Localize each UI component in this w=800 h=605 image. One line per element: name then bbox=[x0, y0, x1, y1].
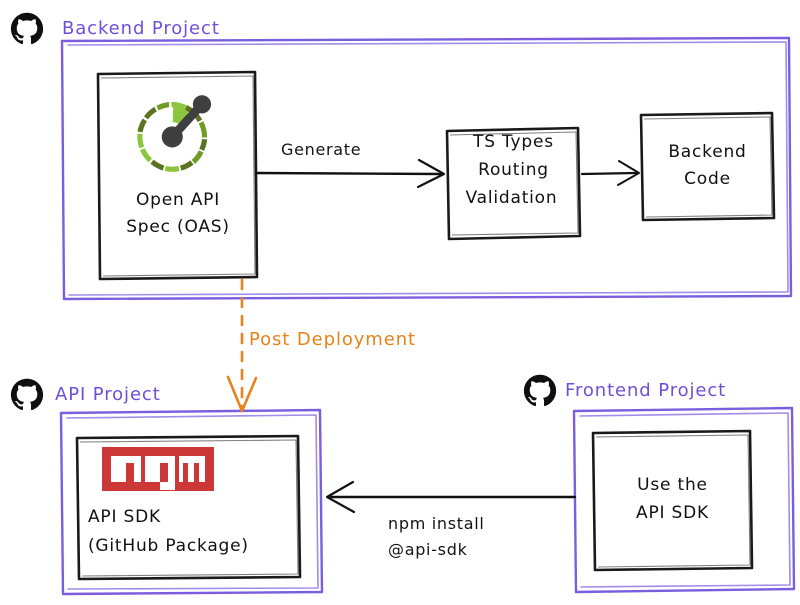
edge-label-npm-install-line1: npm install bbox=[388, 512, 485, 536]
node-label-ts-types-line1: TS Types bbox=[447, 130, 580, 155]
node-label-api-sdk-line2: (GitHub Package) bbox=[88, 534, 298, 559]
node-label-ts-types-line2: Routing bbox=[447, 158, 580, 183]
group-title-frontend-project: Frontend Project bbox=[565, 380, 726, 401]
node-label-open-api-spec-line2: Spec (OAS) bbox=[98, 215, 258, 240]
github-icon bbox=[10, 12, 44, 46]
arrow-ts-to-backend bbox=[582, 161, 639, 185]
group-title-backend-project: Backend Project bbox=[62, 18, 220, 39]
edge-label-generate: Generate bbox=[281, 138, 361, 162]
openapi-logo-icon bbox=[130, 89, 226, 181]
node-label-api-sdk-line1: API SDK bbox=[88, 505, 288, 530]
diagram-canvas: Backend Project API Project Frontend Pro… bbox=[0, 0, 800, 605]
edge-label-post-deployment: Post Deployment bbox=[249, 329, 416, 350]
arrow-generate bbox=[256, 160, 444, 187]
node-label-use-api-sdk-line1: Use the bbox=[593, 473, 752, 498]
node-label-open-api-spec-line1: Open API bbox=[98, 188, 258, 213]
node-label-use-api-sdk-line2: API SDK bbox=[593, 501, 752, 526]
github-icon bbox=[10, 378, 44, 412]
group-title-api-project: API Project bbox=[55, 384, 161, 405]
arrow-npm-install bbox=[327, 482, 575, 512]
github-icon bbox=[523, 374, 557, 408]
node-label-ts-types-line3: Validation bbox=[445, 186, 578, 211]
node-label-backend-code-line1: Backend bbox=[641, 140, 774, 165]
npm-logo-icon bbox=[102, 447, 214, 491]
edge-label-npm-install-line2: @api-sdk bbox=[388, 538, 468, 562]
node-label-backend-code-line2: Code bbox=[641, 167, 774, 192]
